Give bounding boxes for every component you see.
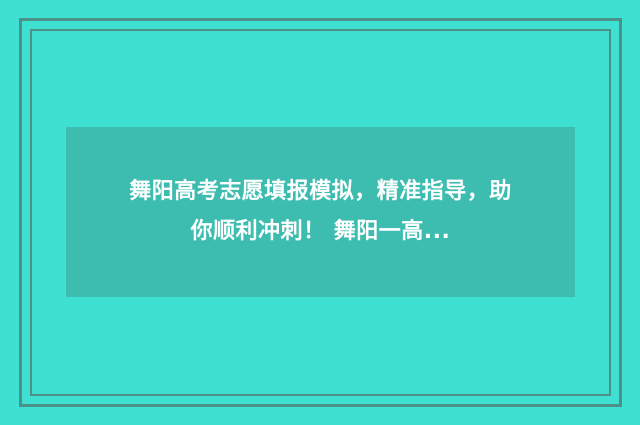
caption-text: 舞阳高考志愿填报模拟，精准指导，助你顺利冲刺！ 舞阳一高...	[121, 172, 521, 252]
poster-canvas: 舞阳高考志愿填报模拟，精准指导，助你顺利冲刺！ 舞阳一高...	[0, 0, 640, 425]
caption-panel: 舞阳高考志愿填报模拟，精准指导，助你顺利冲刺！ 舞阳一高...	[66, 127, 575, 297]
